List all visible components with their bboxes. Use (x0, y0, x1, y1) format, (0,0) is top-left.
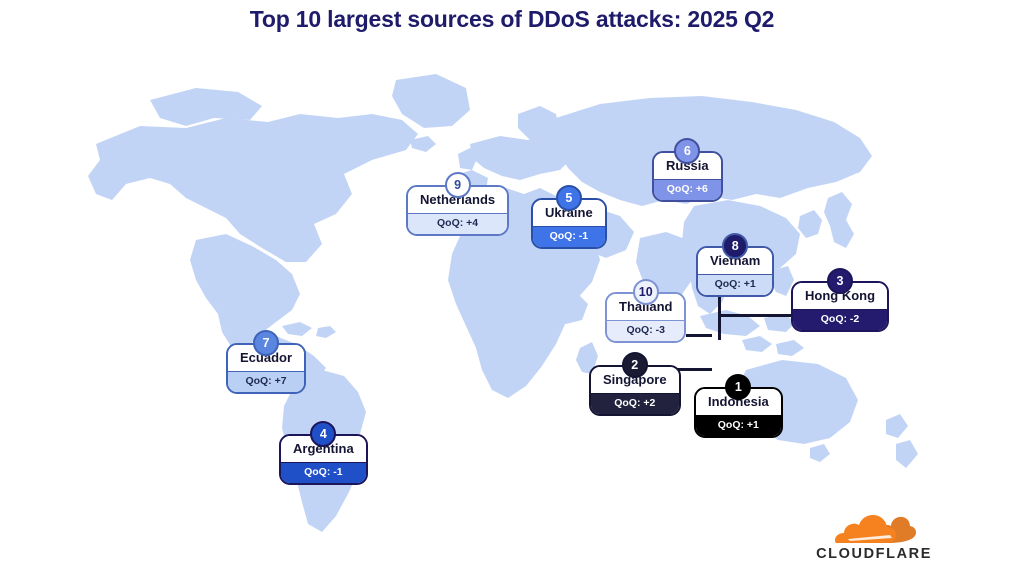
map-label-hong-kong[interactable]: 3 Hong Kong QoQ: -2 (791, 281, 889, 332)
qoq-value: QoQ: +4 (408, 213, 507, 235)
map-label-argentina[interactable]: 4 Argentina QoQ: -1 (279, 434, 368, 485)
map-label-vietnam[interactable]: 8 Vietnam QoQ: +1 (696, 246, 774, 297)
qoq-value: QoQ: +7 (228, 371, 304, 393)
qoq-value: QoQ: +2 (591, 393, 679, 415)
rank-value: 8 (732, 239, 739, 253)
rank-value: 9 (454, 178, 461, 192)
map-label-russia[interactable]: 6 Russia QoQ: +6 (652, 151, 723, 202)
rank-value: 7 (263, 336, 270, 350)
map-label-ecuador[interactable]: 7 Ecuador QoQ: +7 (226, 343, 306, 394)
rank-value: 6 (684, 144, 691, 158)
rank-value: 10 (639, 285, 653, 299)
map-label-ukraine[interactable]: 5 Ukraine QoQ: -1 (531, 198, 607, 249)
map-label-indonesia[interactable]: 1 Indonesia QoQ: +1 (694, 387, 783, 438)
rank-value: 4 (320, 427, 327, 441)
cloudflare-wordmark: CLOUDFLARE (816, 546, 932, 562)
infographic-canvas: Top 10 largest sources of DDoS attacks: … (0, 0, 1024, 576)
cloudflare-logo: CLOUDFLARE (816, 515, 932, 562)
qoq-value: QoQ: +1 (698, 274, 772, 296)
page-title: Top 10 largest sources of DDoS attacks: … (0, 6, 1024, 33)
rank-value: 1 (735, 380, 742, 394)
map-label-netherlands[interactable]: 9 Netherlands QoQ: +4 (406, 185, 509, 236)
rank-value: 5 (565, 191, 572, 205)
map-label-thailand[interactable]: 10 Thailand QoQ: -3 (605, 292, 686, 343)
rank-badge-singapore: 2 (622, 352, 648, 378)
qoq-value: QoQ: -1 (281, 462, 366, 484)
connector-thailand-stub (686, 334, 712, 337)
rank-badge-ukraine: 5 (556, 185, 582, 211)
rank-badge-indonesia: 1 (725, 374, 751, 400)
rank-badge-netherlands: 9 (445, 172, 471, 198)
qoq-value: QoQ: -2 (793, 309, 887, 331)
rank-badge-ecuador: 7 (253, 330, 279, 356)
rank-value: 2 (631, 358, 638, 372)
rank-value: 3 (837, 274, 844, 288)
qoq-value: QoQ: +6 (654, 179, 721, 201)
rank-badge-hong-kong: 3 (827, 268, 853, 294)
qoq-value: QoQ: -3 (607, 320, 684, 342)
map-label-singapore[interactable]: 2 Singapore QoQ: +2 (589, 365, 681, 416)
rank-badge-russia: 6 (674, 138, 700, 164)
rank-badge-argentina: 4 (310, 421, 336, 447)
qoq-value: QoQ: -1 (533, 226, 605, 248)
rank-badge-thailand: 10 (633, 279, 659, 305)
rank-badge-vietnam: 8 (722, 233, 748, 259)
qoq-value: QoQ: +1 (696, 415, 781, 437)
cloudflare-cloud-icon (826, 515, 922, 545)
